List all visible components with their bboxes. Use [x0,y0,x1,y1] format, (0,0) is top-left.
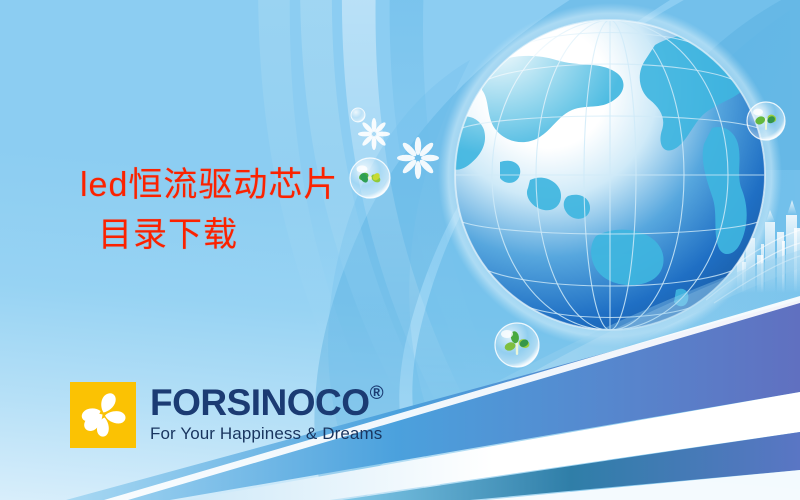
bubble-pinwheel [350,158,390,198]
company-logo: FORSINOCO® For Your Happiness & Dreams [70,382,384,448]
registered-trademark-icon: ® [370,383,384,404]
starburst-small [358,118,390,150]
forsinoco-pinwheel-icon [70,382,136,448]
logo-company-name: FORSINOCO® [150,384,384,421]
promo-banner: led恒流驱动芯片 目录下载 FORSINOCO® For Your Happi… [0,0,800,500]
headline: led恒流驱动芯片 目录下载 [80,160,338,261]
headline-line-2: 目录下载 [80,210,338,260]
headline-line-1: led恒流驱动芯片 [80,166,338,204]
logo-tagline: For Your Happiness & Dreams [150,424,384,444]
logo-name-text: FORSINOCO [150,382,370,423]
bubble-sprout [495,323,539,367]
bubble-leaf [747,102,785,140]
bubble-small [351,108,365,122]
logo-text-block: FORSINOCO® For Your Happiness & Dreams [150,382,384,444]
starburst-large [397,137,439,179]
